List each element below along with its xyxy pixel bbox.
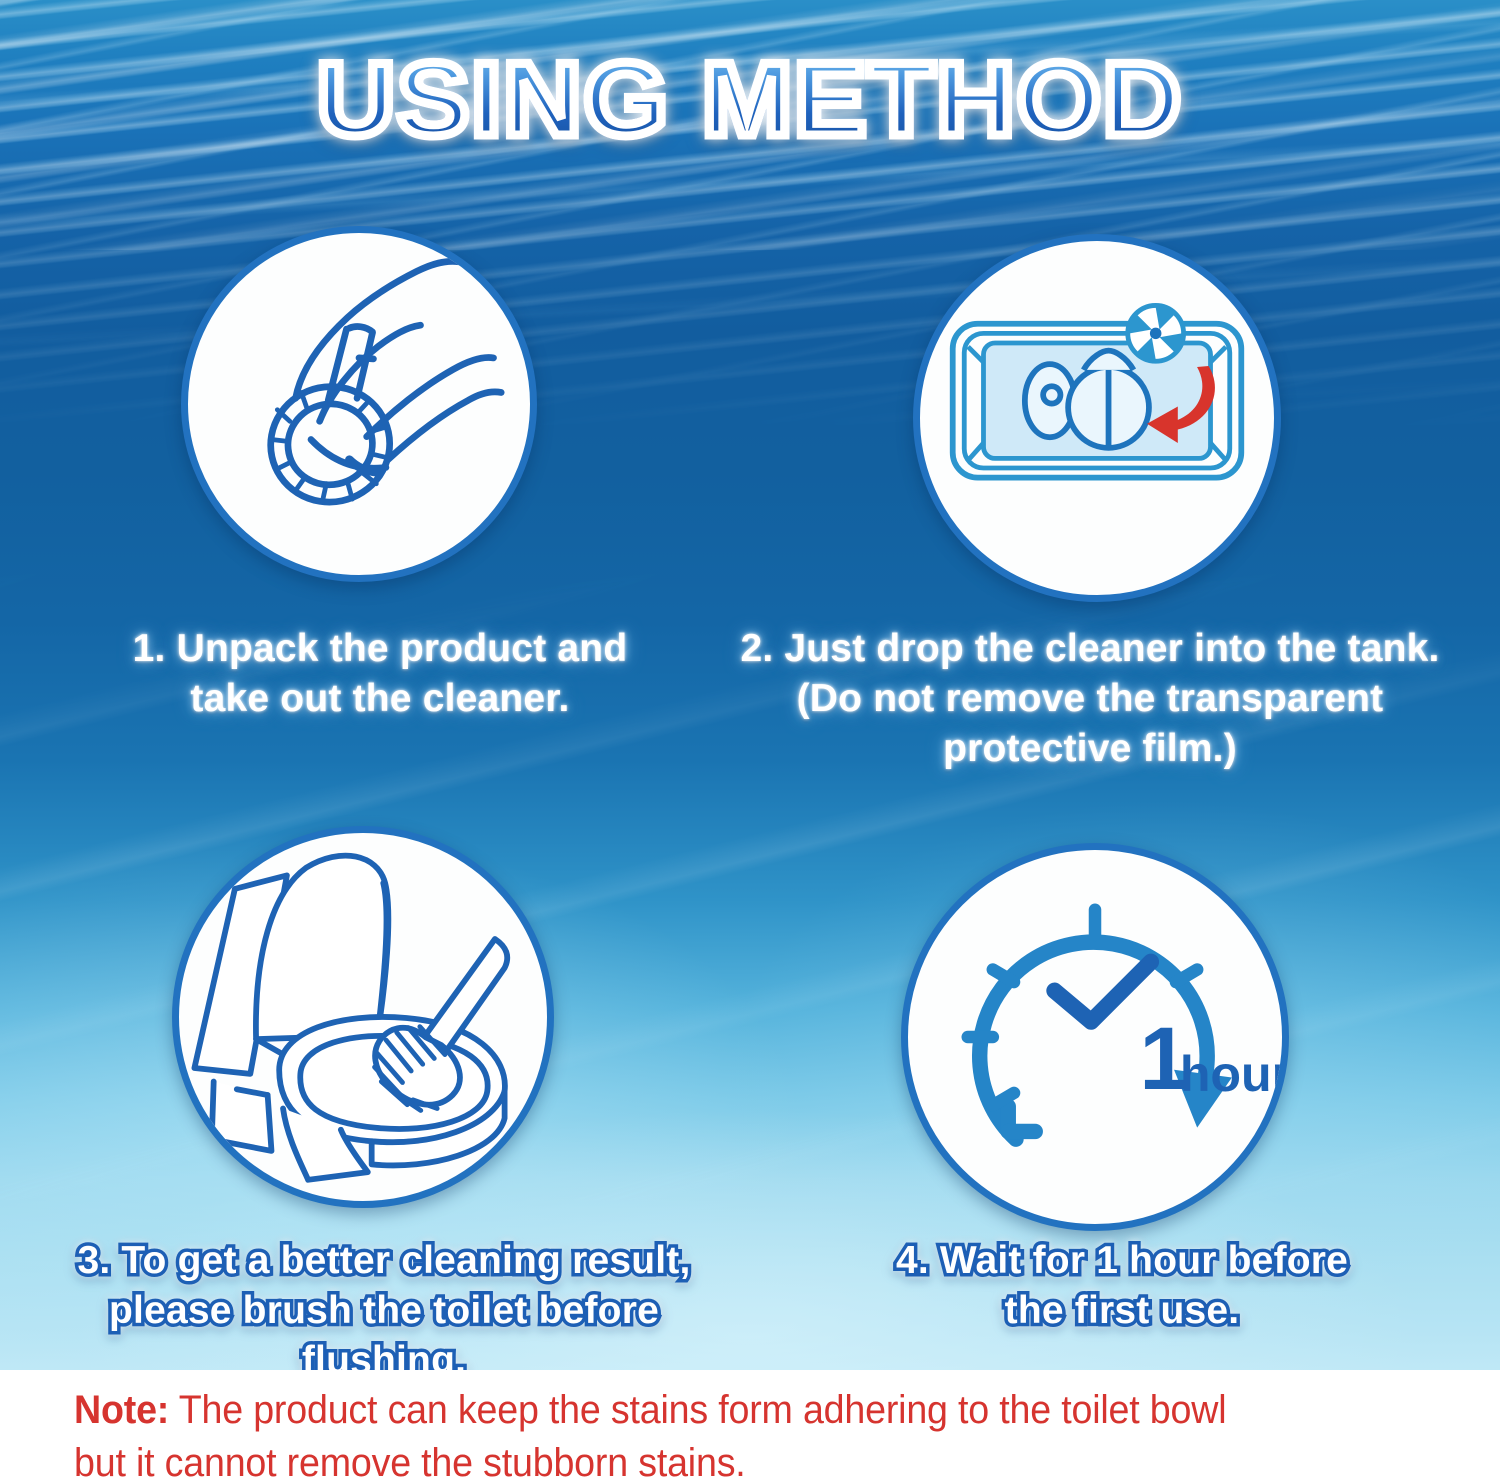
toilet-tank-drop-cleaner-icon [920,241,1274,595]
step-2-caption-line-1: 2. Just drop the cleaner into the tank. [740,624,1440,674]
toilet-with-brush-icon [179,833,547,1201]
step-4-caption-line-1: 4. Wait for 1 hour before [842,1236,1402,1286]
step-1-icon-circle [181,226,537,582]
step-2-icon-circle [913,234,1281,602]
step-1-caption-line-1: 1. Unpack the product and [60,624,700,674]
step-3-icon-circle [172,826,554,1208]
note-bar: Note: The product can keep the stains fo… [0,1370,1500,1478]
using-method-infographic: USING METHOD [0,0,1500,1478]
step-4-caption-line-2: the first use. [842,1286,1402,1336]
step-1-caption-line-2: take out the cleaner. [60,674,700,724]
step-2-caption-line-3: protective film.) [740,724,1440,774]
hand-holding-cleaner-tablet-icon [188,233,530,575]
step-2-caption-line-2: (Do not remove the transparent [740,674,1440,724]
note-label: Note: [74,1388,169,1432]
clock-one-hour-icon: 1 hour [908,850,1282,1224]
step-2-caption: 2. Just drop the cleaner into the tank. … [740,624,1440,774]
step-3-caption: 3. To get a better cleaning result, plea… [24,1236,744,1386]
note-line-1: The product can keep the stains form adh… [169,1388,1226,1432]
clock-badge-unit: hour [1180,1046,1282,1102]
step-4-icon-circle: 1 hour [901,843,1289,1231]
note-text: Note: The product can keep the stains fo… [74,1384,1352,1478]
step-3-caption-line-1: 3. To get a better cleaning result, [24,1236,744,1286]
step-4-caption: 4. Wait for 1 hour before the first use. [842,1236,1402,1336]
step-1-caption: 1. Unpack the product and take out the c… [60,624,700,724]
note-line-2: but it cannot remove the stubborn stains… [74,1441,746,1478]
page-title: USING METHOD [0,46,1500,155]
